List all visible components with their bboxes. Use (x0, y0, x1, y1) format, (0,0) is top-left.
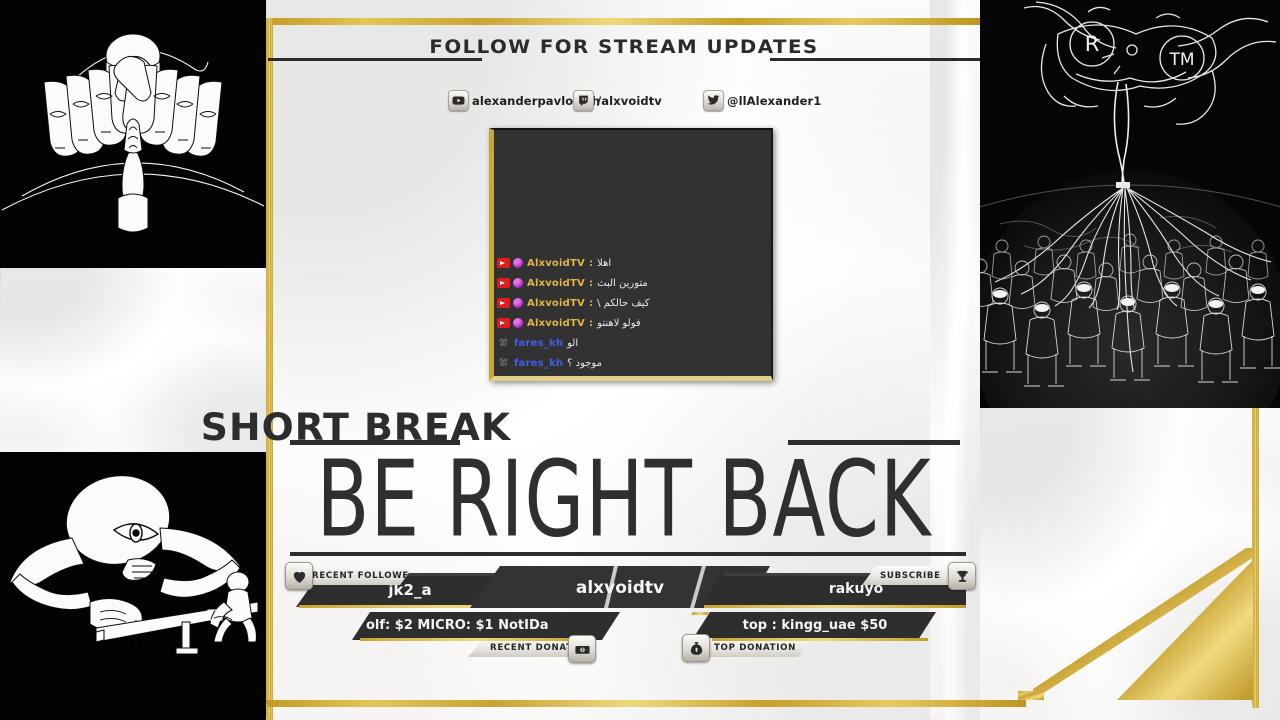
chat-username: fares_kh (514, 338, 563, 349)
trophy-icon (954, 568, 971, 585)
be-right-back-headline: BE RIGHT BACK (268, 444, 980, 556)
chat-badges (497, 318, 523, 328)
recent-donation-gold-edge (360, 638, 594, 641)
chat-username: AlxvoidTV (527, 298, 585, 309)
chat-message: AlxvoidTV : متورين البث (497, 273, 767, 293)
chat-text: اهلا (597, 258, 611, 269)
art-panel-controller-crowd: R TM (980, 0, 1280, 408)
social-handle-twitch: /alxvoidtv (597, 94, 662, 108)
twitter-icon (703, 90, 724, 111)
broadcaster-badge-icon (497, 318, 510, 328)
be-right-back-underline (290, 552, 966, 556)
chat-message: ⛆ fares_kh الو (497, 333, 767, 353)
subscriber-badge-icon (513, 258, 523, 268)
social-handle-twitter: @llAlexander1 (727, 94, 821, 108)
chat-text: موجود ؟ (567, 358, 602, 369)
follow-rule-left (268, 58, 482, 61)
moneybag-chip (682, 634, 710, 662)
subscriber-badge-icon (513, 298, 523, 308)
subscribe-gold-edge (704, 605, 966, 608)
art-panel-hands-eyes (0, 0, 266, 268)
moderator-badge-icon: ⛆ (497, 338, 510, 349)
top-donation-tag-label: TOP DONATION (700, 643, 800, 653)
chat-separator: : (589, 258, 593, 269)
chat-message: AlxvoidTV : اهلا (497, 253, 767, 273)
chat-message: AlxvoidTV : كيف حالكم \ (497, 293, 767, 313)
twitch-icon (573, 90, 594, 111)
subscribe-tag-label: SUBSCRIBE (862, 571, 945, 581)
heart-chip (285, 562, 313, 590)
top-gold-rule (266, 18, 980, 25)
money-icon (574, 641, 591, 658)
chat-badges: ⛆ (497, 338, 510, 349)
heart-icon (291, 568, 308, 585)
social-links-row: alexanderpavlovich /alxvoidtv @llAlexand… (268, 88, 980, 114)
twitch-chat-box[interactable]: AlxvoidTV : اهلا AlxvoidTV : متورين البث… (489, 128, 773, 381)
subscriber-badge-icon (513, 318, 523, 328)
gold-diagonal-stripe (1018, 548, 1254, 700)
subscriber-badge-icon (513, 278, 523, 288)
svg-text:TM: TM (1168, 50, 1194, 70)
chat-badges (497, 278, 523, 288)
chat-text: فولو لاهنتو (597, 318, 641, 329)
chat-username: AlxvoidTV (527, 278, 585, 289)
chat-badges: ⛆ (497, 358, 510, 369)
follow-heading-text: FOLLOW FOR STREAM UPDATES (254, 36, 994, 58)
follow-rule-right (770, 58, 980, 61)
chat-text: الو (567, 338, 578, 349)
stream-overlay: R TM (0, 0, 1280, 720)
chat-separator: : (589, 278, 593, 289)
chat-message: AlxvoidTV : فولو لاهنتو (497, 313, 767, 333)
chat-text: كيف حالكم \ (597, 298, 649, 309)
recent-follower-tag-plate: RECENT FOLLOWER (296, 566, 414, 585)
chat-badges (497, 258, 523, 268)
social-link-twitch[interactable]: /alxvoidtv (573, 90, 662, 111)
bottom-gold-rule (266, 700, 1026, 707)
social-link-twitter[interactable]: @llAlexander1 (703, 90, 821, 111)
top-donation-gold-edge (712, 638, 928, 641)
chat-badges (497, 298, 523, 308)
youtube-icon (448, 90, 469, 111)
art-panel-giant-seesaw (0, 452, 266, 720)
broadcaster-badge-icon (497, 278, 510, 288)
trophy-chip[interactable] (948, 562, 976, 590)
chat-separator: : (589, 298, 593, 309)
chat-text: متورين البث (597, 278, 648, 289)
chat-message: ⛆ fares_kh موجود ؟ (497, 353, 767, 373)
chat-username: fares_kh (514, 358, 563, 369)
chat-separator: : (589, 318, 593, 329)
top-donation-value: top : kingg_uae $50 (700, 618, 930, 633)
top-donation-gold-edge-left (691, 612, 709, 615)
chat-username: AlxvoidTV (527, 318, 585, 329)
left-gold-rule (266, 18, 273, 720)
recent-follower-tag-label: RECENT FOLLOWER (296, 571, 420, 581)
follow-heading-block: FOLLOW FOR STREAM UPDATES (268, 36, 980, 80)
moderator-badge-icon: ⛆ (497, 358, 510, 369)
recent-donation-value: olf: $2 MICRO: $1 NotIDa (366, 618, 616, 633)
broadcaster-badge-icon (497, 298, 510, 308)
moneybag-icon (688, 640, 705, 657)
chat-username: AlxvoidTV (527, 258, 585, 269)
svg-text:R: R (1085, 32, 1100, 56)
broadcaster-badge-icon (497, 258, 510, 268)
money-chip (568, 635, 596, 663)
